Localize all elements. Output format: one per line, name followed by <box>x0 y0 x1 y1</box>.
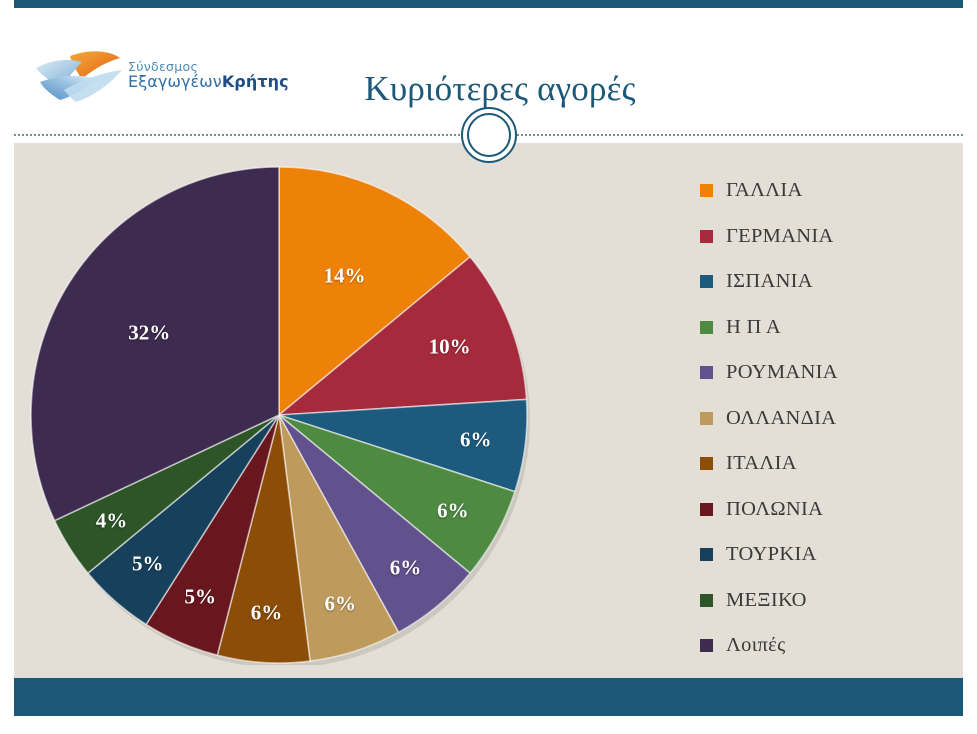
legend-item[interactable]: Λοιπές <box>700 623 950 669</box>
legend-swatch-icon <box>700 412 713 425</box>
legend-item-label: ΠΟΛΩΝΙΑ <box>726 498 823 521</box>
legend-item-label: ΓΕΡΜΑΝΙΑ <box>726 225 834 248</box>
legend-item[interactable]: ΠΟΛΩΝΙΑ <box>700 487 950 533</box>
legend-swatch-icon <box>700 184 713 197</box>
legend-item[interactable]: ΜΕΞΙΚΟ <box>700 578 950 624</box>
legend-swatch-icon <box>700 639 713 652</box>
left-margin <box>0 0 14 734</box>
decorative-ring-inner-icon <box>467 113 511 157</box>
legend-item[interactable]: ΡΟΥΜΑΝΙΑ <box>700 350 950 396</box>
legend-item[interactable]: ΟΛΛΑΝΔΙΑ <box>700 396 950 442</box>
footer-strip <box>0 716 977 734</box>
logo-line2-a: Εξαγωγέων <box>128 72 222 91</box>
legend-swatch-icon <box>700 594 713 607</box>
bottom-accent-band <box>0 678 977 716</box>
legend-item[interactable]: ΓΑΛΛΙΑ <box>700 168 950 214</box>
legend-item-label: ΡΟΥΜΑΝΙΑ <box>726 361 838 384</box>
title-line-1: Κυριότερες αγορές <box>364 69 635 108</box>
legend-swatch-icon <box>700 275 713 288</box>
slide: Σύνδεσμος ΕξαγωγέωνΚρήτης Κυριότερες αγο… <box>0 0 977 734</box>
legend-item-label: Λοιπές <box>726 634 786 657</box>
legend-item[interactable]: ΙΤΑΛΙΑ <box>700 441 950 487</box>
legend-swatch-icon <box>700 457 713 470</box>
legend-swatch-icon <box>700 366 713 379</box>
legend-item-label: Η Π Α <box>726 316 781 339</box>
divider-dotted-left <box>14 134 460 136</box>
top-accent-band <box>0 0 977 8</box>
legend-swatch-icon <box>700 503 713 516</box>
chart-legend: ΓΑΛΛΙΑΓΕΡΜΑΝΙΑΙΣΠΑΝΙΑΗ Π ΑΡΟΥΜΑΝΙΑΟΛΛΑΝΔ… <box>700 168 950 669</box>
legend-item-label: ΙΤΑΛΙΑ <box>726 452 797 475</box>
legend-item-label: ΜΕΞΙΚΟ <box>726 589 807 612</box>
legend-item[interactable]: ΤΟΥΡΚΙΑ <box>700 532 950 578</box>
legend-item[interactable]: ΓΕΡΜΑΝΙΑ <box>700 214 950 260</box>
right-margin <box>963 0 977 734</box>
legend-swatch-icon <box>700 321 713 334</box>
legend-swatch-icon <box>700 548 713 561</box>
pie-chart-svg[interactable] <box>14 165 559 665</box>
legend-item-label: ΤΟΥΡΚΙΑ <box>726 543 817 566</box>
logo: Σύνδεσμος ΕξαγωγέωνΚρήτης <box>34 46 224 108</box>
legend-item-label: ΟΛΛΑΝΔΙΑ <box>726 407 836 430</box>
legend-item[interactable]: ΙΣΠΑΝΙΑ <box>700 259 950 305</box>
legend-item-label: ΓΑΛΛΙΑ <box>726 179 803 202</box>
pie-chart: 14%10%6%6%6%6%6%5%5%4%32% <box>14 165 559 665</box>
legend-item[interactable]: Η Π Α <box>700 305 950 351</box>
legend-item-label: ΙΣΠΑΝΙΑ <box>726 270 813 293</box>
divider-dotted-right <box>517 134 963 136</box>
legend-swatch-icon <box>700 230 713 243</box>
